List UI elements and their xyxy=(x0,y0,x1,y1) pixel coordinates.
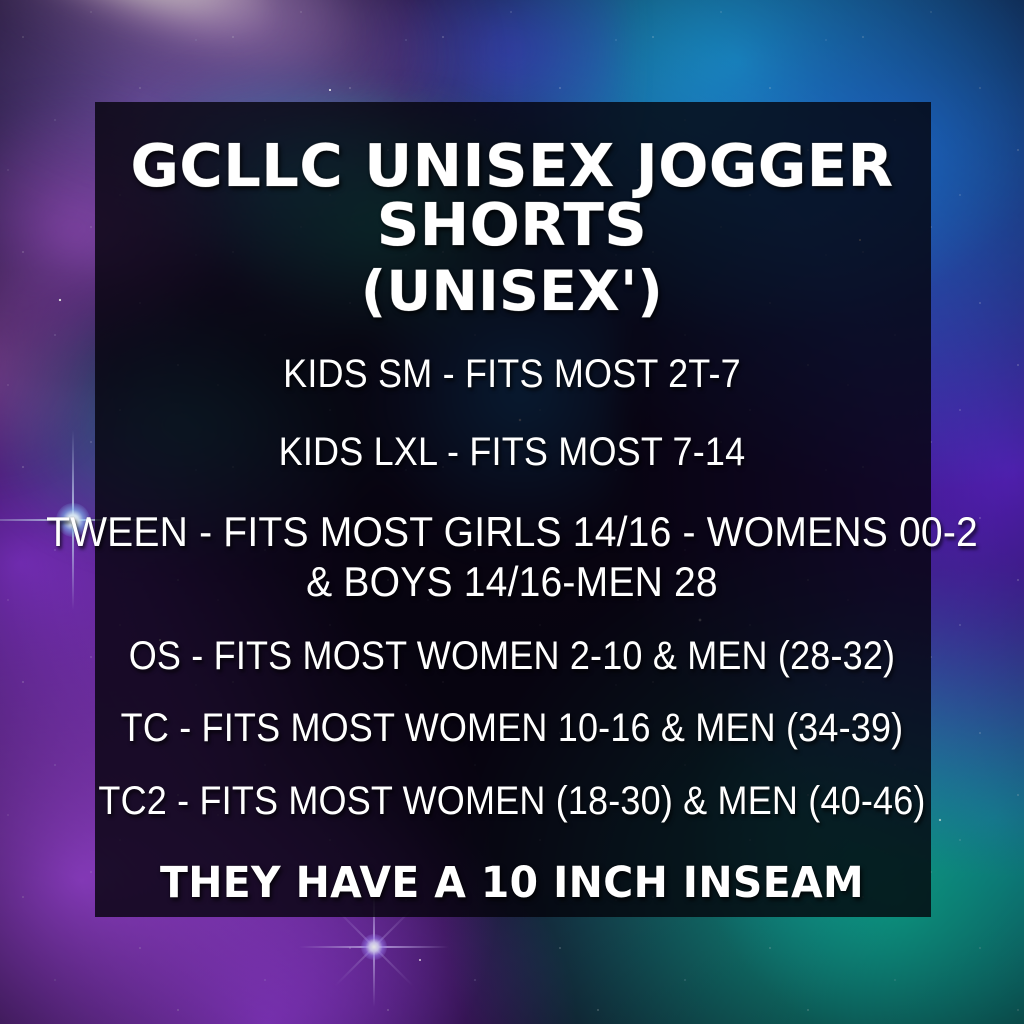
size-line-tween: TWEEN - FITS MOST GIRLS 14/16 - WOMENS 0… xyxy=(36,510,988,555)
size-line-kids-lxl: KIDS LXL - FITS MOST 7-14 xyxy=(51,431,973,473)
size-line-os: OS - FITS MOST WOMEN 2-10 & MEN (28-32) xyxy=(51,635,973,677)
inseam-note: THEY HAVE A 10 INCH INSEAM xyxy=(26,862,999,905)
poster-content: GCLLC UNISEX JOGGER SHORTS (UNISEX') KID… xyxy=(0,0,1024,1024)
size-line-tc: TC - FITS MOST WOMEN 10-16 & MEN (34-39) xyxy=(51,707,973,749)
galaxy-size-chart-poster: GCLLC UNISEX JOGGER SHORTS (UNISEX') KID… xyxy=(0,0,1024,1024)
size-line-kids-sm: KIDS SM - FITS MOST 2T-7 xyxy=(51,353,973,395)
size-line-tween-boys: & BOYS 14/16-MEN 28 xyxy=(36,560,988,605)
size-line-tc2: TC2 - FITS MOST WOMEN (18-30) & MEN (40-… xyxy=(51,780,973,822)
page-title: GCLLC UNISEX JOGGER SHORTS xyxy=(0,136,1024,254)
page-subtitle: (UNISEX') xyxy=(0,264,1024,319)
